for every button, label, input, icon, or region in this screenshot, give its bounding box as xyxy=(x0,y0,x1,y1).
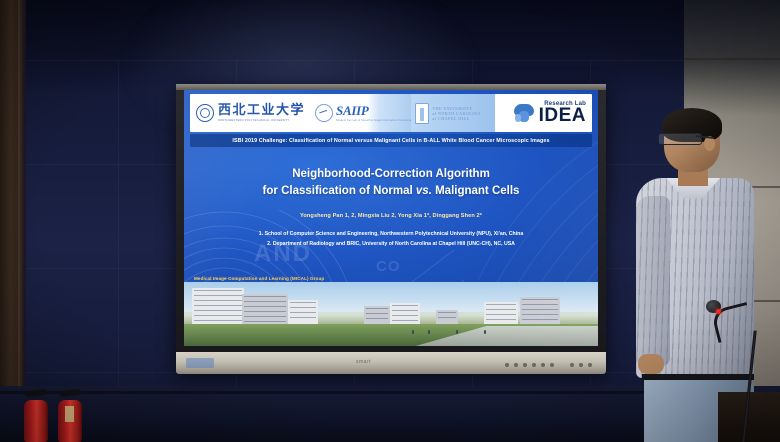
campus-building xyxy=(364,306,390,324)
title-line-2-pre: for Classification of Normal xyxy=(263,185,416,197)
extinguisher-handle xyxy=(25,389,48,397)
display-power-button[interactable] xyxy=(570,363,574,367)
display-button[interactable] xyxy=(541,363,545,367)
campus-building xyxy=(436,310,458,324)
brain-icon xyxy=(514,103,536,123)
saiip-logo: SAIIP Shaanxi Key Lab of Speech & Image … xyxy=(305,94,411,132)
idea-wordmark: IDEA xyxy=(539,107,586,125)
title-line-2: for Classification of Normal vs. Maligna… xyxy=(184,183,598,200)
campus-photo xyxy=(184,282,598,346)
presentation-slide: AND CO 西北工业大学 NORTHWESTERN POLYTECHNICAL… xyxy=(184,90,598,346)
slide-title: Neighborhood-Correction Algorithm for Cl… xyxy=(184,166,598,199)
title-line-2-emphasis: vs. xyxy=(416,185,432,197)
campus-building xyxy=(288,300,318,324)
npu-chinese-name: 西北工业大学 xyxy=(218,104,305,117)
old-well-icon xyxy=(415,103,429,124)
microphone-led-indicator xyxy=(716,309,721,314)
display-button[interactable] xyxy=(579,363,583,367)
display-screen[interactable]: AND CO 西北工业大学 NORTHWESTERN POLYTECHNICAL… xyxy=(184,90,598,346)
institution-logo-strip: 西北工业大学 NORTHWESTERN POLYTECHNICAL UNIVER… xyxy=(190,94,592,132)
extinguisher-handle xyxy=(59,389,82,397)
saiip-subtitle: Shaanxi Key Lab of Speech & Image Inform… xyxy=(336,119,411,122)
display-button[interactable] xyxy=(514,363,518,367)
affiliation-2: 2. Department of Radiology and BRIC, Uni… xyxy=(184,240,598,250)
author-list: Yongsheng Pan 1, 2, Mingxia Liu 2, Yong … xyxy=(184,213,598,219)
extinguisher-tag xyxy=(65,406,74,422)
affiliations: 1. School of Computer Science and Engine… xyxy=(184,230,598,249)
npu-seal-icon xyxy=(196,104,214,122)
campus-building xyxy=(484,302,518,324)
challenge-banner-text: ISBI 2019 Challenge: Classification of N… xyxy=(232,138,549,144)
campus-person xyxy=(456,330,458,334)
title-line-1: Neighborhood-Correction Algorithm xyxy=(184,166,598,183)
right-wall-seam-1 xyxy=(684,58,780,60)
display-brand-badge xyxy=(186,358,214,368)
display-button[interactable] xyxy=(588,363,592,367)
unc-line-3: at CHAPEL HILL xyxy=(432,116,480,121)
saiip-wordmark: SAIIP xyxy=(336,104,411,117)
extinguisher-body xyxy=(24,400,48,442)
display-button[interactable] xyxy=(550,363,554,367)
campus-person xyxy=(428,330,430,334)
presenter-arm xyxy=(636,196,670,366)
wall-baseboard xyxy=(0,391,700,394)
presentation-scene: AND CO 西北工业大学 NORTHWESTERN POLYTECHNICAL… xyxy=(0,0,780,442)
presenter-hand xyxy=(638,354,664,374)
unc-logo: THE UNIVERSITY of NORTH CAROLINA at CHAP… xyxy=(411,94,495,132)
title-line-2-post: Malignant Cells xyxy=(432,185,520,197)
display-button[interactable] xyxy=(523,363,527,367)
affiliation-1: 1. School of Computer Science and Engine… xyxy=(184,230,598,240)
campus-building xyxy=(390,303,420,324)
campus-building xyxy=(520,297,560,324)
display-button[interactable] xyxy=(532,363,536,367)
unc-line-2: of NORTH CAROLINA xyxy=(432,111,480,116)
npu-english-name: NORTHWESTERN POLYTECHNICAL UNIVERSITY xyxy=(218,119,305,122)
npu-logo: 西北工业大学 NORTHWESTERN POLYTECHNICAL UNIVER… xyxy=(190,94,305,132)
display-control-buttons[interactable] xyxy=(505,363,592,367)
campus-building xyxy=(192,288,244,324)
idea-logo: Research Lab IDEA xyxy=(514,101,592,125)
challenge-banner: ISBI 2019 Challenge: Classification of N… xyxy=(190,134,592,147)
campus-building xyxy=(242,294,288,324)
campus-person xyxy=(484,330,486,334)
left-column-edge xyxy=(18,0,23,400)
slide-watermark-secondary: CO xyxy=(376,258,401,275)
fire-extinguisher xyxy=(56,386,84,442)
display-brand-label: smart xyxy=(356,359,371,365)
campus-person xyxy=(412,330,414,334)
saiip-mark-icon xyxy=(315,104,333,122)
fire-extinguisher xyxy=(22,386,50,442)
display-bottom-bezel: smart xyxy=(176,352,606,374)
smartboard-display[interactable]: AND CO 西北工业大学 NORTHWESTERN POLYTECHNICAL… xyxy=(176,84,606,374)
display-button[interactable] xyxy=(505,363,509,367)
